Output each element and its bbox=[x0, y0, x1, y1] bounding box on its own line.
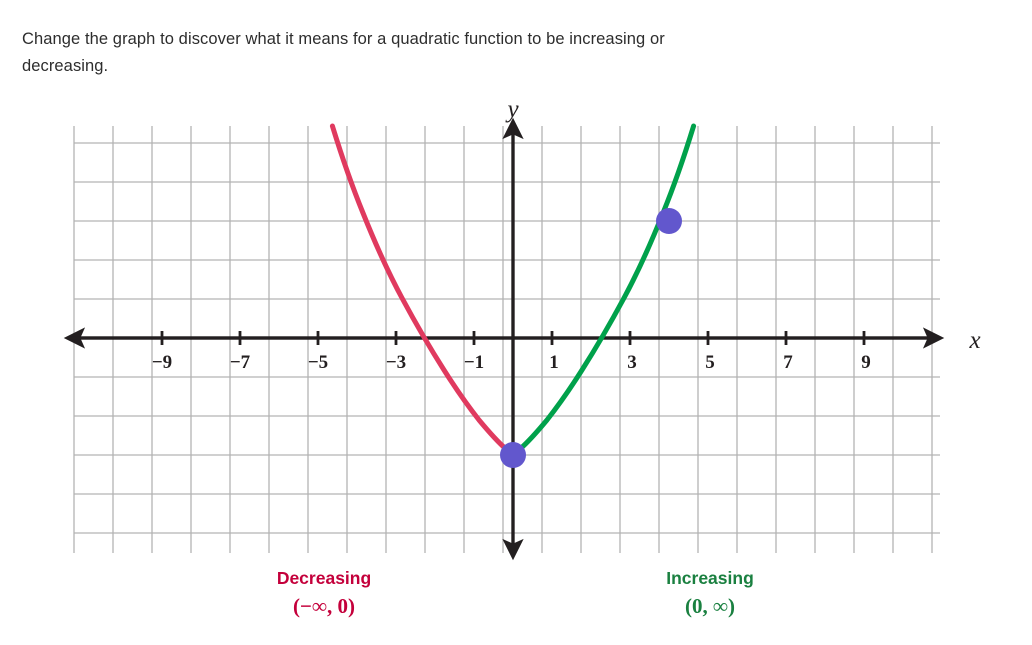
increasing-curve[interactable] bbox=[513, 126, 694, 455]
increasing-interval: (0, ∞) bbox=[685, 594, 735, 618]
x-tick-label-3: 3 bbox=[627, 352, 637, 373]
x-tick-label-neg9: −9 bbox=[152, 352, 172, 373]
y-axis-label: y bbox=[504, 96, 519, 123]
x-axis-tick-labels: −9 −7 −5 −3 −1 1 3 5 7 9 bbox=[152, 352, 871, 373]
x-tick-label-7: 7 bbox=[783, 352, 793, 373]
x-tick-label-neg3: −3 bbox=[386, 352, 406, 373]
increasing-label: Increasing bbox=[666, 568, 754, 588]
x-tick-label-1: 1 bbox=[549, 352, 559, 373]
decreasing-interval: (−∞, 0) bbox=[293, 594, 355, 618]
x-axis-label: x bbox=[968, 327, 980, 354]
x-tick-label-neg5: −5 bbox=[308, 352, 328, 373]
x-tick-label-neg1: −1 bbox=[464, 352, 484, 373]
vertex-point[interactable] bbox=[500, 442, 526, 468]
decreasing-label: Decreasing bbox=[277, 568, 371, 588]
x-tick-label-9: 9 bbox=[861, 352, 871, 373]
decreasing-curve[interactable] bbox=[332, 126, 513, 455]
graph-canvas[interactable]: −9 −7 −5 −3 −1 1 3 5 7 9 x y Decreasing … bbox=[0, 0, 1032, 645]
x-tick-label-5: 5 bbox=[705, 352, 715, 373]
quadratic-graph-figure[interactable]: −9 −7 −5 −3 −1 1 3 5 7 9 x y Decreasing … bbox=[0, 0, 1032, 645]
movable-point[interactable] bbox=[656, 208, 682, 234]
decreasing-annotation: Decreasing (−∞, 0) bbox=[277, 568, 371, 618]
increasing-annotation: Increasing (0, ∞) bbox=[666, 568, 754, 618]
x-tick-label-neg7: −7 bbox=[230, 352, 251, 373]
